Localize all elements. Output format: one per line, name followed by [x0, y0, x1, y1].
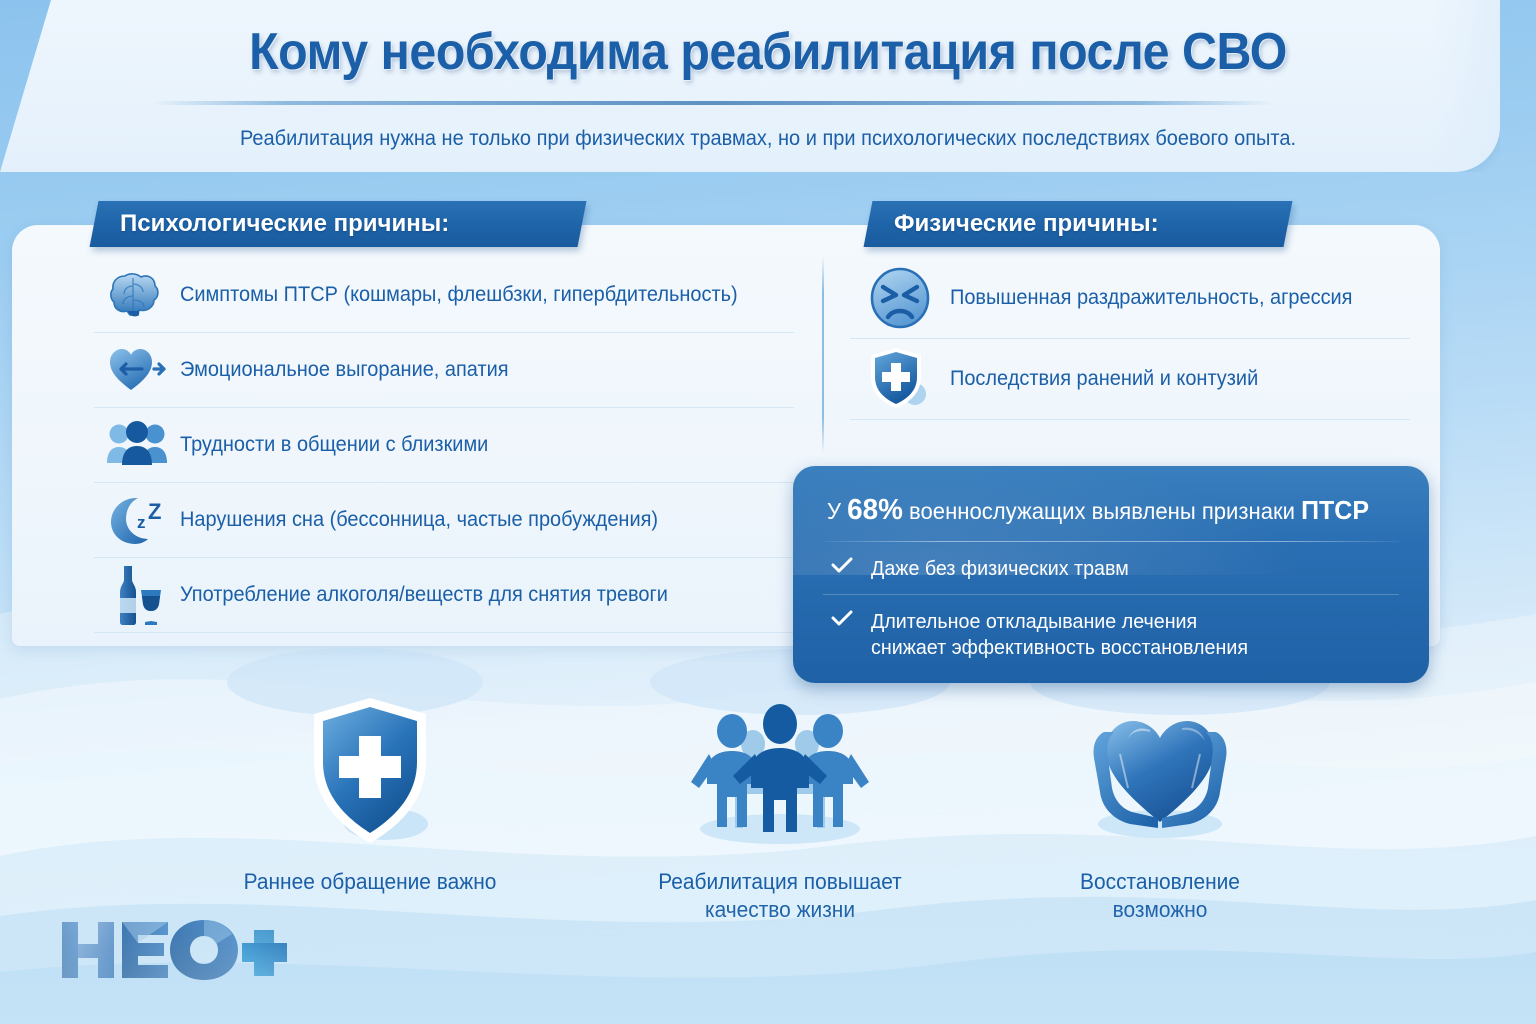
statistics-bullet-label: Длительное откладывание лечения снижает …: [871, 609, 1248, 661]
shield-cross-large-icon: [180, 706, 560, 846]
banner-psychological-label: Психологические причины:: [94, 201, 582, 247]
list-item-label: Нарушения сна (бессонница, частые пробуж…: [180, 508, 658, 532]
bottle-glass-icon: [94, 560, 180, 630]
svg-text:Z: Z: [148, 499, 161, 524]
banner-physical: Физические причины:: [864, 201, 1293, 247]
brain-icon: [94, 260, 180, 330]
check-icon: [823, 609, 871, 634]
stat-prefix: У: [827, 498, 847, 524]
page-subtitle: Реабилитация нужна не только при физичес…: [54, 126, 1482, 151]
outcome-caption: Восстановление возможно: [980, 868, 1341, 923]
list-item-label: Повышенная раздражительность, агрессия: [950, 286, 1352, 310]
list-item: Даже без физических травм: [823, 542, 1399, 595]
outcome-caption: Раннее обращение важно: [190, 868, 551, 896]
list-item-label: Употребление алкоголя/веществ для снятия…: [180, 583, 668, 607]
banner-physical-label: Физические причины:: [868, 201, 1288, 247]
list-item: Последствия ранений и контузий: [850, 339, 1410, 420]
stat-percent: 68%: [847, 494, 903, 526]
moon-sleep-icon: z Z: [94, 485, 180, 555]
outcomes-row: Раннее обращение важно: [0, 706, 1536, 936]
heart-arrow-icon: [94, 335, 180, 405]
angry-face-icon: [850, 263, 950, 333]
people-group-icon: [94, 410, 180, 480]
page-title: Кому необходима реабилитация после СВО: [54, 22, 1482, 82]
column-divider: [822, 256, 824, 453]
banner-psychological: Психологические причины:: [90, 201, 587, 247]
statistics-callout: У 68% военнослужащих выявлены признаки П…: [793, 466, 1429, 683]
list-item: Трудности в общении с близкими: [94, 408, 794, 483]
infographic-canvas: Кому необходима реабилитация после СВО Р…: [0, 0, 1536, 1024]
list-item-label: Симптомы ПТСР (кошмары, флешбзки, гиперб…: [180, 283, 738, 307]
outcome-caption: Реабилитация повышает качество жизни: [600, 868, 961, 923]
svg-text:z: z: [137, 513, 146, 532]
list-item-label: Последствия ранений и контузий: [950, 367, 1258, 391]
psychological-causes-list: Симптомы ПТСР (кошмары, флешбзки, гиперб…: [94, 258, 794, 633]
list-item: z Z Нарушения сна (бессонница, частые пр…: [94, 483, 794, 558]
statistics-headline: У 68% военнослужащих выявлены признаки П…: [827, 494, 1372, 527]
list-item: Длительное откладывание лечения снижает …: [823, 595, 1399, 673]
list-item-label: Эмоциональное выгорание, апатия: [180, 358, 509, 382]
outcome-item: Реабилитация повышает качество жизни: [590, 706, 970, 923]
list-item-label: Трудности в общении с близкими: [180, 433, 488, 457]
check-icon: [823, 556, 871, 581]
physical-causes-list: Повышенная раздражительность, агрессия П…: [850, 258, 1410, 420]
outcome-item: Восстановление возможно: [970, 706, 1350, 923]
shield-cross-icon: [850, 344, 950, 414]
list-item: Симптомы ПТСР (кошмары, флешбзки, гиперб…: [94, 258, 794, 333]
list-item: Употребление алкоголя/веществ для снятия…: [94, 558, 794, 633]
statistics-bullet-label: Даже без физических травм: [871, 556, 1129, 582]
stat-tail: ПТСР: [1301, 495, 1369, 525]
neo-plus-logo: [58, 918, 288, 982]
people-group-large-icon: [590, 706, 970, 846]
outcome-item: Раннее обращение важно: [180, 706, 560, 896]
hands-heart-icon: [970, 706, 1350, 846]
title-divider: [152, 101, 1274, 105]
list-item: Повышенная раздражительность, агрессия: [850, 258, 1410, 339]
list-item: Эмоциональное выгорание, апатия: [94, 333, 794, 408]
stat-middle: военнослужащих выявлены признаки: [903, 498, 1301, 524]
